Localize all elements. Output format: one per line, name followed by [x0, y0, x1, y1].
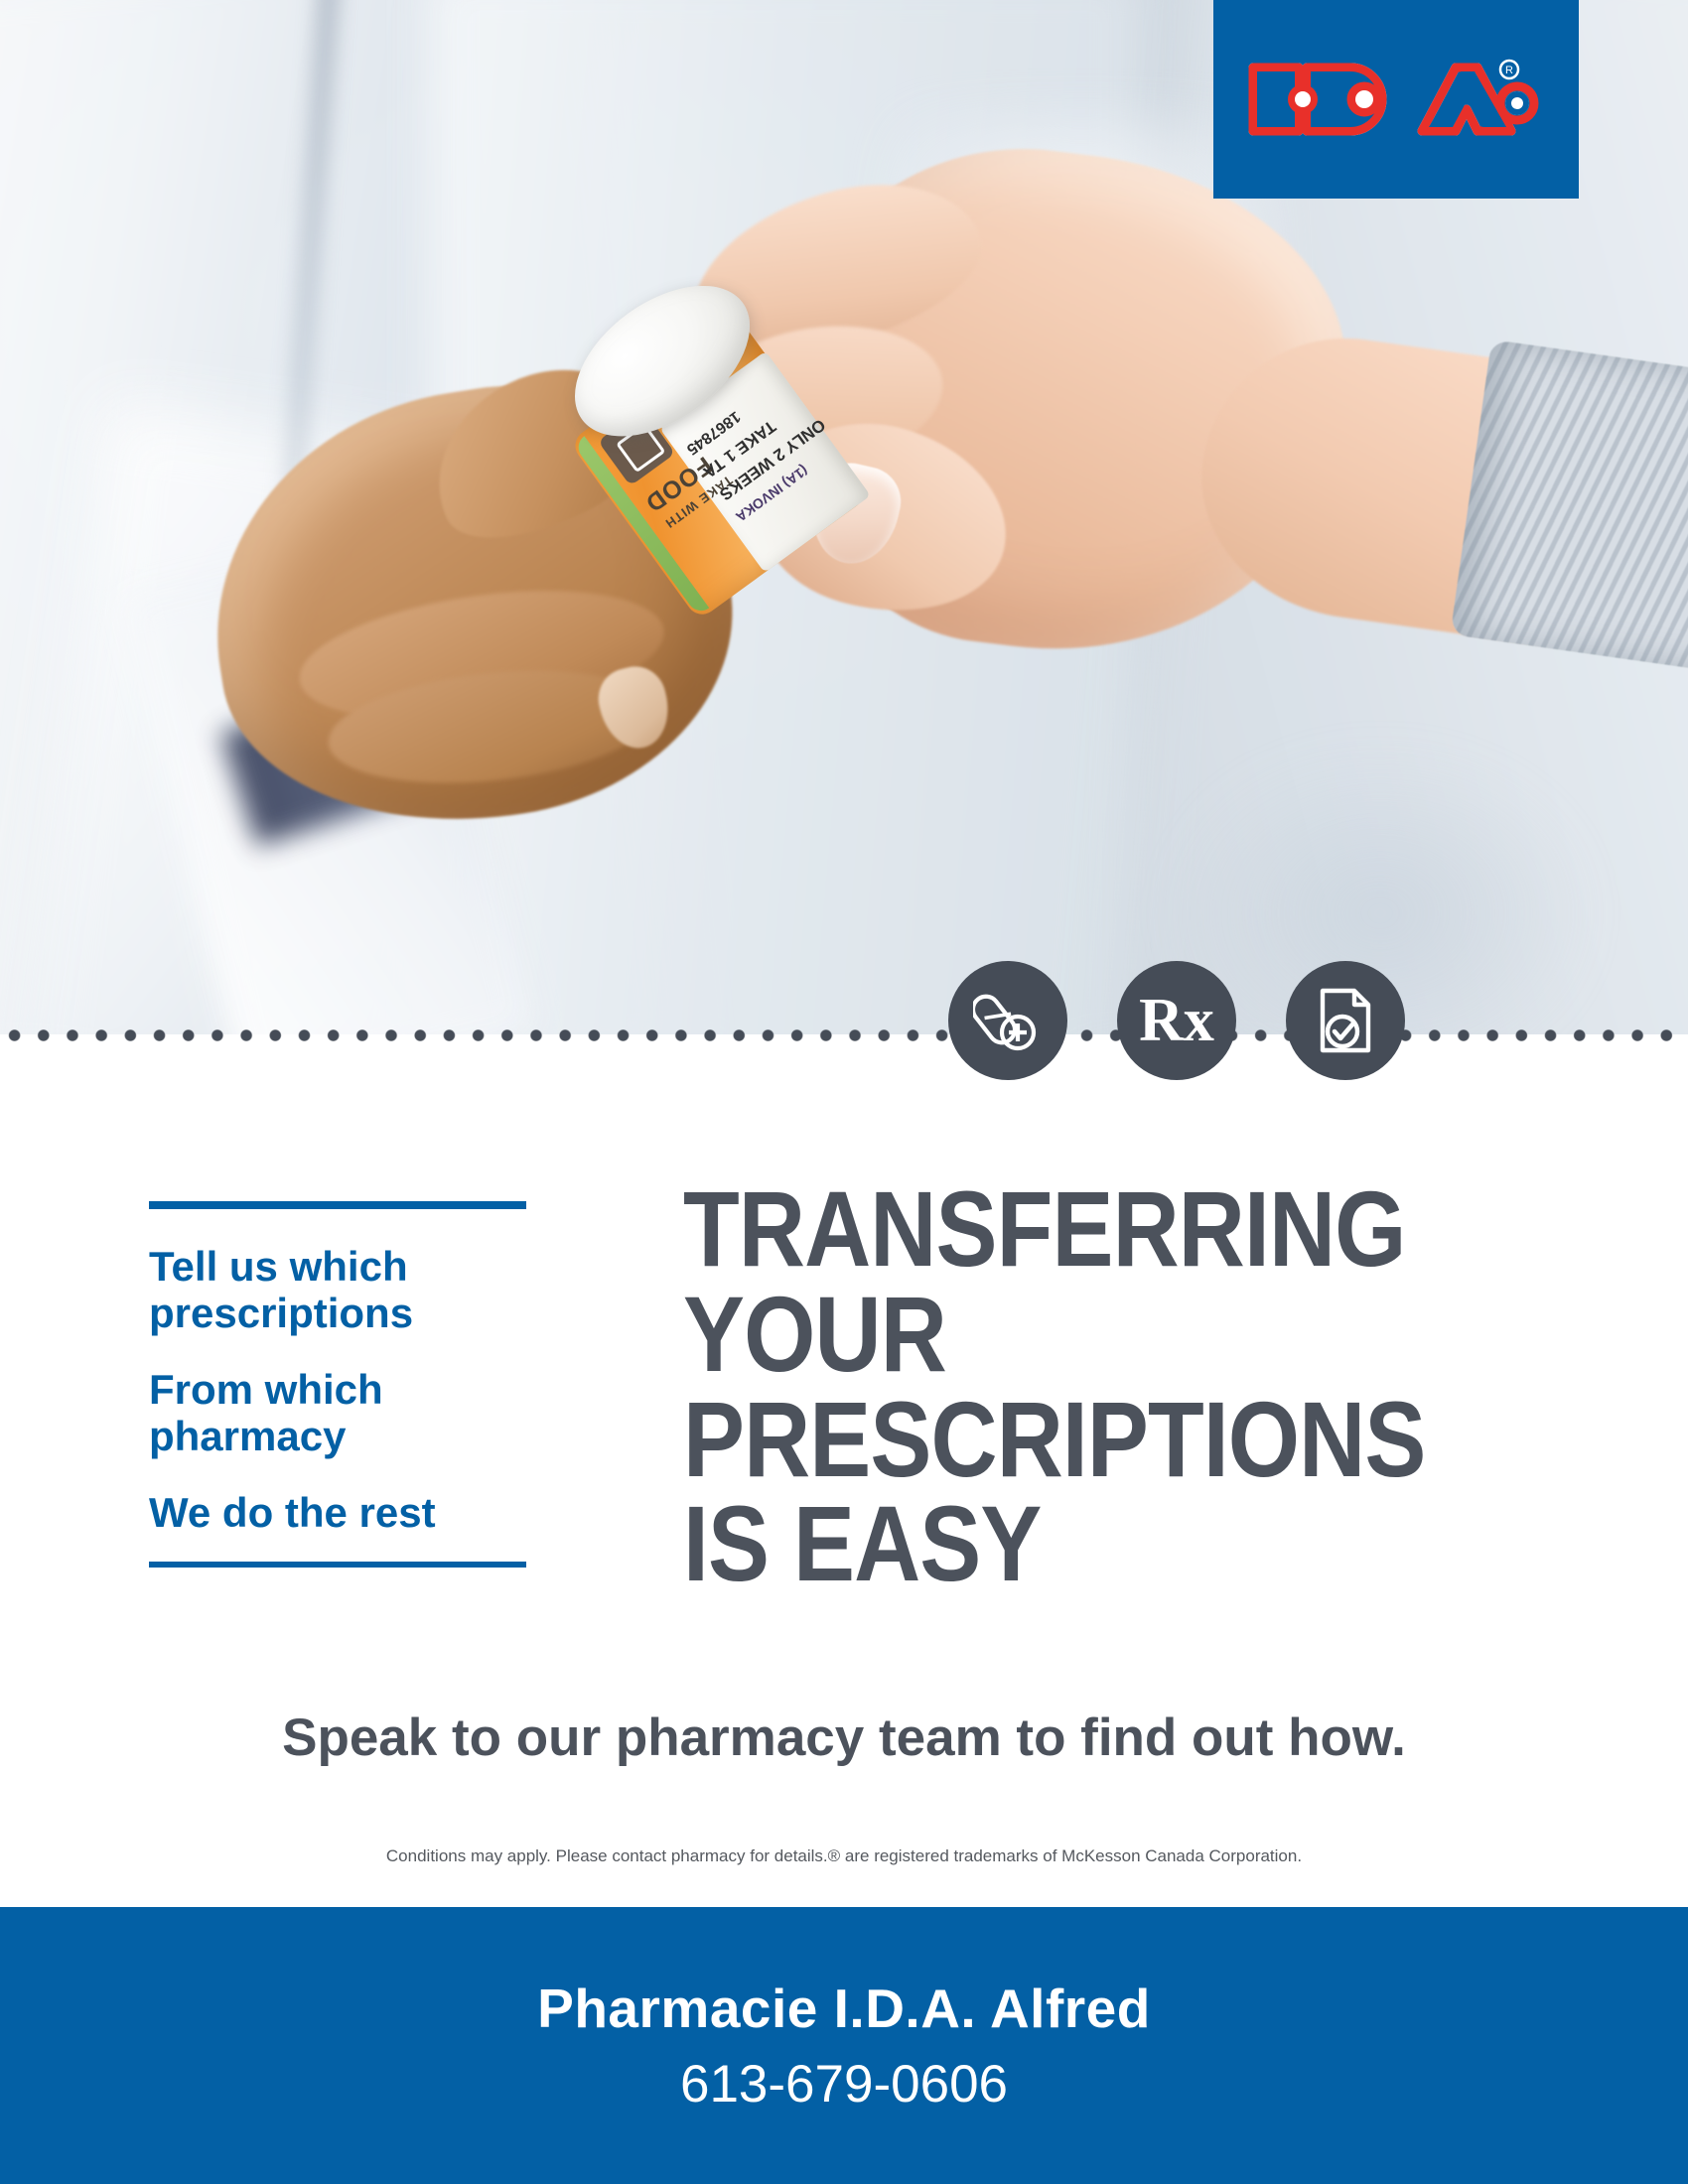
- pills-plus-icon: [973, 986, 1043, 1055]
- pharmacy-name: Pharmacie I.D.A. Alfred: [537, 1977, 1151, 2040]
- benefits-list: Tell us which prescriptions From which p…: [149, 1201, 526, 1568]
- benefits-rule-top: [149, 1201, 526, 1209]
- dotted-divider: [0, 1021, 1688, 1050]
- disclaimer-text: Conditions may apply. Please contact pha…: [0, 1846, 1688, 1866]
- document-check-badge: [1286, 961, 1405, 1080]
- footer-bar: Pharmacie I.D.A. Alfred 613-679-0606: [0, 1907, 1688, 2184]
- headline-line-4: IS EASY: [683, 1491, 1452, 1596]
- pills-plus-badge: [948, 961, 1067, 1080]
- benefit-item-1: Tell us which prescriptions: [149, 1243, 526, 1336]
- rx-badge: Rx: [1117, 961, 1236, 1080]
- process-icon-badges: Rx: [948, 953, 1405, 1087]
- pharmacy-phone[interactable]: 613-679-0606: [680, 2054, 1008, 2115]
- page-title: TRANSFERRING YOUR PRESCRIPTIONS IS EASY: [683, 1176, 1452, 1596]
- svg-text:R: R: [1505, 65, 1513, 76]
- ida-logo: R: [1213, 0, 1579, 199]
- rx-icon: Rx: [1139, 990, 1214, 1051]
- benefits-rule-bottom: [149, 1562, 526, 1568]
- benefit-item-3: We do the rest: [149, 1489, 526, 1536]
- benefits-items: Tell us which prescriptions From which p…: [149, 1209, 526, 1562]
- headline-line-1: TRANSFERRING: [683, 1176, 1452, 1282]
- headline-line-3: PRESCRIPTIONS: [683, 1387, 1452, 1492]
- customer-sweater-sleeve: [1450, 340, 1688, 673]
- dotted-divider-line: [0, 1021, 1688, 1050]
- tagline: Speak to our pharmacy team to find out h…: [0, 1707, 1688, 1768]
- benefit-item-2: From which pharmacy: [149, 1366, 526, 1459]
- document-check-icon: [1313, 986, 1378, 1055]
- headline-line-2: YOUR: [683, 1282, 1452, 1387]
